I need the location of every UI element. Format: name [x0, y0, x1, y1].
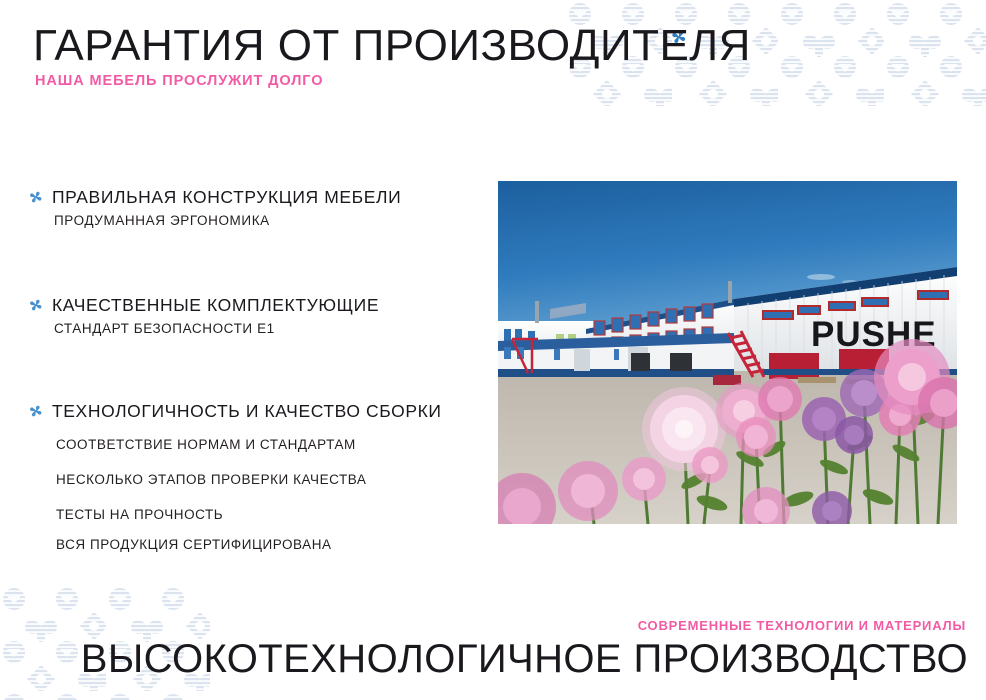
feature-item-2: КАЧЕСТВЕННЫЕ КОМПЛЕКТУЮЩИЕ СТАНДАРТ БЕЗО…: [28, 294, 488, 338]
feature-list: ПРАВИЛЬНАЯ КОНСТРУКЦИЯ МЕБЕЛИ ПРОДУМАННА…: [28, 186, 488, 571]
page-title: ГАРАНТИЯ ОТ ПРОИЗВОДИТЕЛЯ: [33, 22, 751, 70]
list-item: ВСЯ ПРОДУКЦИЯ СЕРТИФИЦИРОВАНА: [56, 536, 488, 554]
list-item: ТЕСТЫ НА ПРОЧНОСТЬ: [56, 506, 488, 524]
slide-footer: СОВРЕМЕННЫЕ ТЕХНОЛОГИИ И МАТЕРИАЛЫ ВЫСОК…: [0, 618, 968, 682]
factory-photo-illustration: PUSHE: [498, 181, 957, 524]
list-item: СООТВЕТСТВИЕ НОРМАМ И СТАНДАРТАМ: [56, 436, 488, 454]
feature-item-3: ТЕХНОЛОГИЧНОСТЬ И КАЧЕСТВО СБОРКИ СООТВЕ…: [28, 400, 488, 554]
slide-header: ГАРАНТИЯ ОТ ПРОИЗВОДИТЕЛЯ НАША МЕБЕЛЬ ПР…: [33, 22, 751, 90]
clover-icon: [28, 189, 44, 205]
feature-subtitle: ПРОДУМАННАЯ ЭРГОНОМИКА: [54, 212, 488, 230]
factory-photo: PUSHE: [498, 181, 957, 524]
feature-heading: ПРАВИЛЬНАЯ КОНСТРУКЦИЯ МЕБЕЛИ: [28, 186, 488, 208]
feature-title: КАЧЕСТВЕННЫЕ КОМПЛЕКТУЮЩИЕ: [52, 294, 379, 316]
clover-icon: [28, 297, 44, 313]
feature-title: ПРАВИЛЬНАЯ КОНСТРУКЦИЯ МЕБЕЛИ: [52, 186, 401, 208]
feature-item-1: ПРАВИЛЬНАЯ КОНСТРУКЦИЯ МЕБЕЛИ ПРОДУМАННА…: [28, 186, 488, 230]
feature-subtitle: СТАНДАРТ БЕЗОПАСНОСТИ Е1: [54, 320, 488, 338]
feature-sub-list: СООТВЕТСТВИЕ НОРМАМ И СТАНДАРТАМ НЕСКОЛЬ…: [56, 436, 488, 554]
footer-title: ВЫСОКОТЕХНОЛОГИЧНОЕ ПРОИЗВОДСТВО: [0, 636, 968, 682]
clover-icon: [28, 403, 44, 419]
footer-kicker: СОВРЕМЕННЫЕ ТЕХНОЛОГИИ И МАТЕРИАЛЫ: [0, 618, 966, 634]
list-item: НЕСКОЛЬКО ЭТАПОВ ПРОВЕРКИ КАЧЕСТВА: [56, 471, 488, 489]
feature-heading: ТЕХНОЛОГИЧНОСТЬ И КАЧЕСТВО СБОРКИ: [28, 400, 488, 422]
page-subtitle: НАША МЕБЕЛЬ ПРОСЛУЖИТ ДОЛГО: [35, 72, 751, 90]
feature-title: ТЕХНОЛОГИЧНОСТЬ И КАЧЕСТВО СБОРКИ: [52, 400, 442, 422]
feature-heading: КАЧЕСТВЕННЫЕ КОМПЛЕКТУЮЩИЕ: [28, 294, 488, 316]
presentation-slide: ГАРАНТИЯ ОТ ПРОИЗВОДИТЕЛЯ НАША МЕБЕЛЬ ПР…: [0, 0, 986, 700]
